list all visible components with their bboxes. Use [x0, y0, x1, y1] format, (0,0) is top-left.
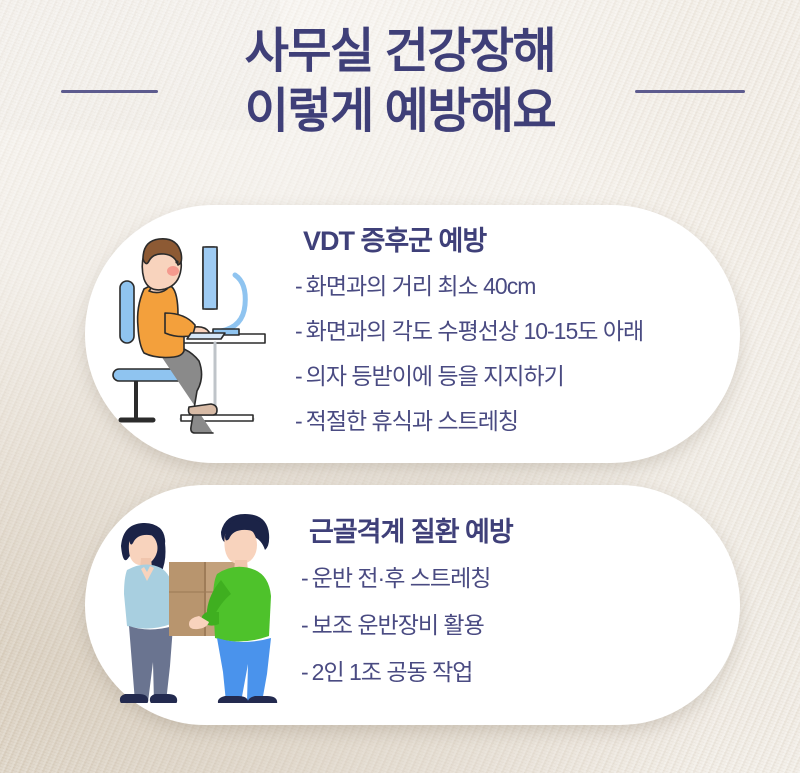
person-at-desk-illustration	[103, 229, 283, 439]
bullet-text: 2인 1조 공동 작업	[312, 659, 473, 685]
list-item: -운반 전·후 스트레칭	[301, 555, 716, 602]
bullet-text: 보조 운반장비 활용	[312, 612, 484, 638]
card-msd-prevention: 근골격계 질환 예방 -운반 전·후 스트레칭 -보조 운반장비 활용 -2인 …	[85, 485, 740, 725]
list-item: -화면과의 각도 수평선상 10-15도 아래	[295, 309, 716, 354]
title-line-1: 사무실 건강장해	[0, 22, 800, 82]
bullet-text: 화면과의 거리 최소 40cm	[306, 273, 536, 299]
list-item: -화면과의 거리 최소 40cm	[295, 264, 716, 309]
bullet-text: 운반 전·후 스트레칭	[312, 565, 491, 591]
bullet-dash-icon: -	[295, 318, 302, 344]
bullet-text: 적절한 휴식과 스트레칭	[306, 408, 518, 434]
bullet-dash-icon: -	[295, 408, 302, 434]
card-msd-heading: 근골격계 질환 예방	[309, 515, 716, 549]
bullet-text: 의자 등받이에 등을 지지하기	[306, 363, 564, 389]
bullet-dash-icon: -	[301, 612, 308, 638]
card-vdt-heading: VDT 증후군 예방	[303, 224, 716, 258]
two-people-carrying-box-illustration	[99, 508, 289, 703]
card-msd-bullet-list: -운반 전·후 스트레칭 -보조 운반장비 활용 -2인 1조 공동 작업	[301, 555, 716, 696]
card-msd-body: 근골격계 질환 예방 -운반 전·후 스트레칭 -보조 운반장비 활용 -2인 …	[289, 515, 740, 696]
title-dash-left	[61, 90, 158, 93]
list-item: -의자 등받이에 등을 지지하기	[295, 354, 716, 399]
poster-title: 사무실 건강장해 이렇게 예방해요	[0, 22, 800, 142]
poster-background: 사무실 건강장해 이렇게 예방해요	[0, 0, 800, 773]
bullet-dash-icon: -	[301, 659, 308, 685]
bullet-dash-icon: -	[295, 363, 302, 389]
bullet-text: 화면과의 각도 수평선상 10-15도 아래	[306, 318, 643, 344]
list-item: -보조 운반장비 활용	[301, 602, 716, 649]
list-item: -2인 1조 공동 작업	[301, 649, 716, 696]
list-item: -적절한 휴식과 스트레칭	[295, 399, 716, 444]
title-dash-right	[635, 90, 745, 93]
card-vdt-bullet-list: -화면과의 거리 최소 40cm -화면과의 각도 수평선상 10-15도 아래…	[295, 264, 716, 444]
card-vdt-body: VDT 증후군 예방 -화면과의 거리 최소 40cm -화면과의 각도 수평선…	[283, 224, 740, 444]
bullet-dash-icon: -	[295, 273, 302, 299]
card-vdt-prevention: VDT 증후군 예방 -화면과의 거리 최소 40cm -화면과의 각도 수평선…	[85, 205, 740, 463]
bullet-dash-icon: -	[301, 565, 308, 591]
